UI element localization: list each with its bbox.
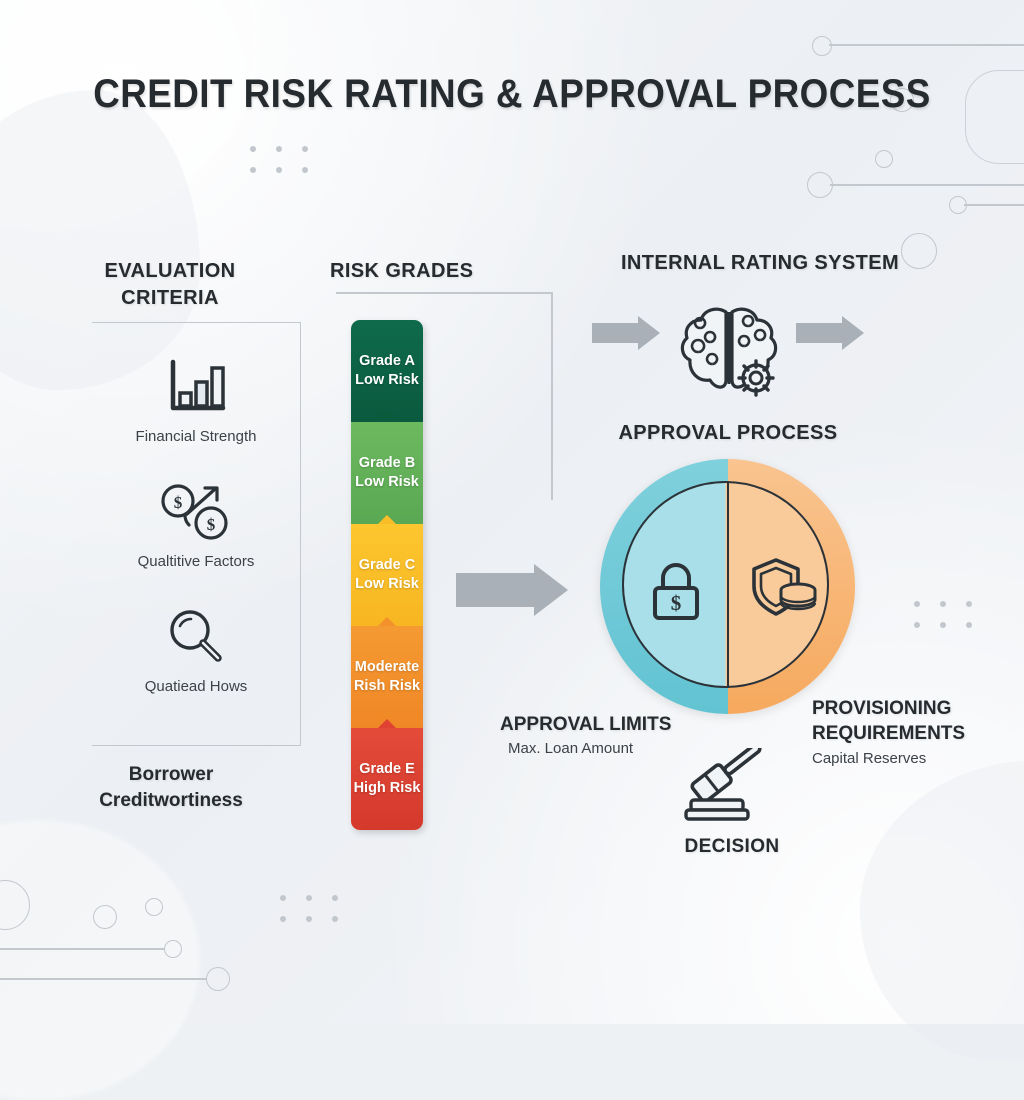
risk-grade-name: Grade B — [359, 454, 415, 473]
deco-circle-10 — [164, 940, 182, 958]
deco-circle-3 — [875, 150, 893, 168]
criterion-item-qualitative-factors: $ $ Qualtitive Factors — [92, 477, 300, 570]
risk-grade-name: Grade E — [359, 760, 415, 779]
svg-text:$: $ — [174, 493, 183, 512]
gavel-icon — [683, 748, 779, 826]
risk-grade-level: Low Risk — [355, 575, 419, 594]
criterion-label: Quatiead Hows — [92, 678, 300, 695]
approval-circle-divider — [727, 481, 730, 688]
risk-grade-name: Grade A — [359, 352, 415, 371]
risk-grade-level: Low Risk — [355, 473, 419, 492]
svg-text:$: $ — [207, 515, 216, 534]
arrow-grades-to-circle — [456, 550, 574, 630]
svg-text:$: $ — [671, 591, 682, 615]
borrower-creditworthiness-label: Borrower Creditwortiness — [60, 762, 282, 814]
magnifier-icon — [92, 602, 300, 672]
risk-grades-rule — [336, 292, 552, 294]
bg-blob-bottomright — [860, 760, 1024, 1060]
deco-line-3 — [964, 204, 1024, 206]
deco-line-1 — [829, 44, 1024, 46]
risk-grade-segment[interactable]: Grade E High Risk — [351, 728, 423, 830]
arrow-out-of-rating — [796, 306, 866, 360]
risk-grade-level: Low Risk — [355, 371, 419, 390]
criterion-label: Financial Strength — [92, 428, 300, 445]
approval-limits-sub: Max. Loan Amount — [508, 740, 688, 757]
deco-circle-8 — [93, 905, 117, 929]
criterion-label: Qualtitive Factors — [92, 553, 300, 570]
evaluation-criteria-heading: EVALUATION CRITERIA — [60, 258, 280, 312]
decision-heading: DECISION — [660, 836, 804, 858]
criterion-item-financial-strength: Financial Strength — [92, 352, 300, 445]
risk-grade-level: Rish Risk — [354, 677, 420, 696]
bar-chart-icon — [92, 352, 300, 422]
arrow-into-rating — [592, 306, 662, 360]
risk-grade-segment[interactable]: Moderate Rish Risk — [351, 626, 423, 728]
risk-grade-name: Grade C — [359, 556, 415, 575]
page-title: CREDIT RISK RATING & APPROVAL PROCESS — [41, 72, 983, 117]
risk-grade-level: High Risk — [354, 779, 421, 798]
deco-circle-9 — [145, 898, 163, 916]
approval-limits-heading: APPROVAL LIMITS — [500, 712, 680, 737]
risk-grades-ladder: Grade A Low Risk Grade B Low Risk Grade … — [351, 320, 423, 830]
provisioning-requirements-sub: Capital Reserves — [812, 750, 1002, 767]
deco-dot-grid-right — [914, 601, 960, 629]
lock-dollar-icon: $ — [645, 560, 707, 622]
money-exchange-icon: $ $ — [92, 477, 300, 547]
deco-circle-11 — [206, 967, 230, 991]
risk-grade-segment[interactable]: Grade B Low Risk — [351, 422, 423, 524]
infographic-canvas: CREDIT RISK RATING & APPROVAL PROCESS EV… — [0, 0, 1024, 1024]
deco-line-4 — [0, 948, 165, 950]
risk-grade-name: Moderate — [355, 658, 419, 677]
risk-grade-segment[interactable]: Grade A Low Risk — [351, 320, 423, 422]
deco-dot-grid-top — [250, 146, 296, 174]
shield-coins-icon — [748, 556, 818, 622]
deco-line-2 — [830, 184, 1024, 186]
risk-grade-segment[interactable]: Grade C Low Risk — [351, 524, 423, 626]
deco-line-5 — [0, 978, 207, 980]
provisioning-requirements-heading: PROVISIONING REQUIREMENTS — [812, 696, 1002, 746]
internal-rating-system-heading: INTERNAL RATING SYSTEM — [560, 252, 960, 275]
risk-grades-connector — [551, 292, 553, 500]
criterion-item-qualitative-flows: Quatiead Hows — [92, 602, 300, 695]
risk-grades-heading: RISK GRADES — [330, 260, 530, 283]
brain-gear-icon — [672, 300, 788, 404]
approval-process-heading: APPROVAL PROCESS — [578, 422, 878, 445]
deco-dot-grid-bottom — [280, 895, 326, 923]
deco-circle-1 — [812, 36, 832, 56]
bg-blob-bottomleft — [0, 820, 200, 1100]
